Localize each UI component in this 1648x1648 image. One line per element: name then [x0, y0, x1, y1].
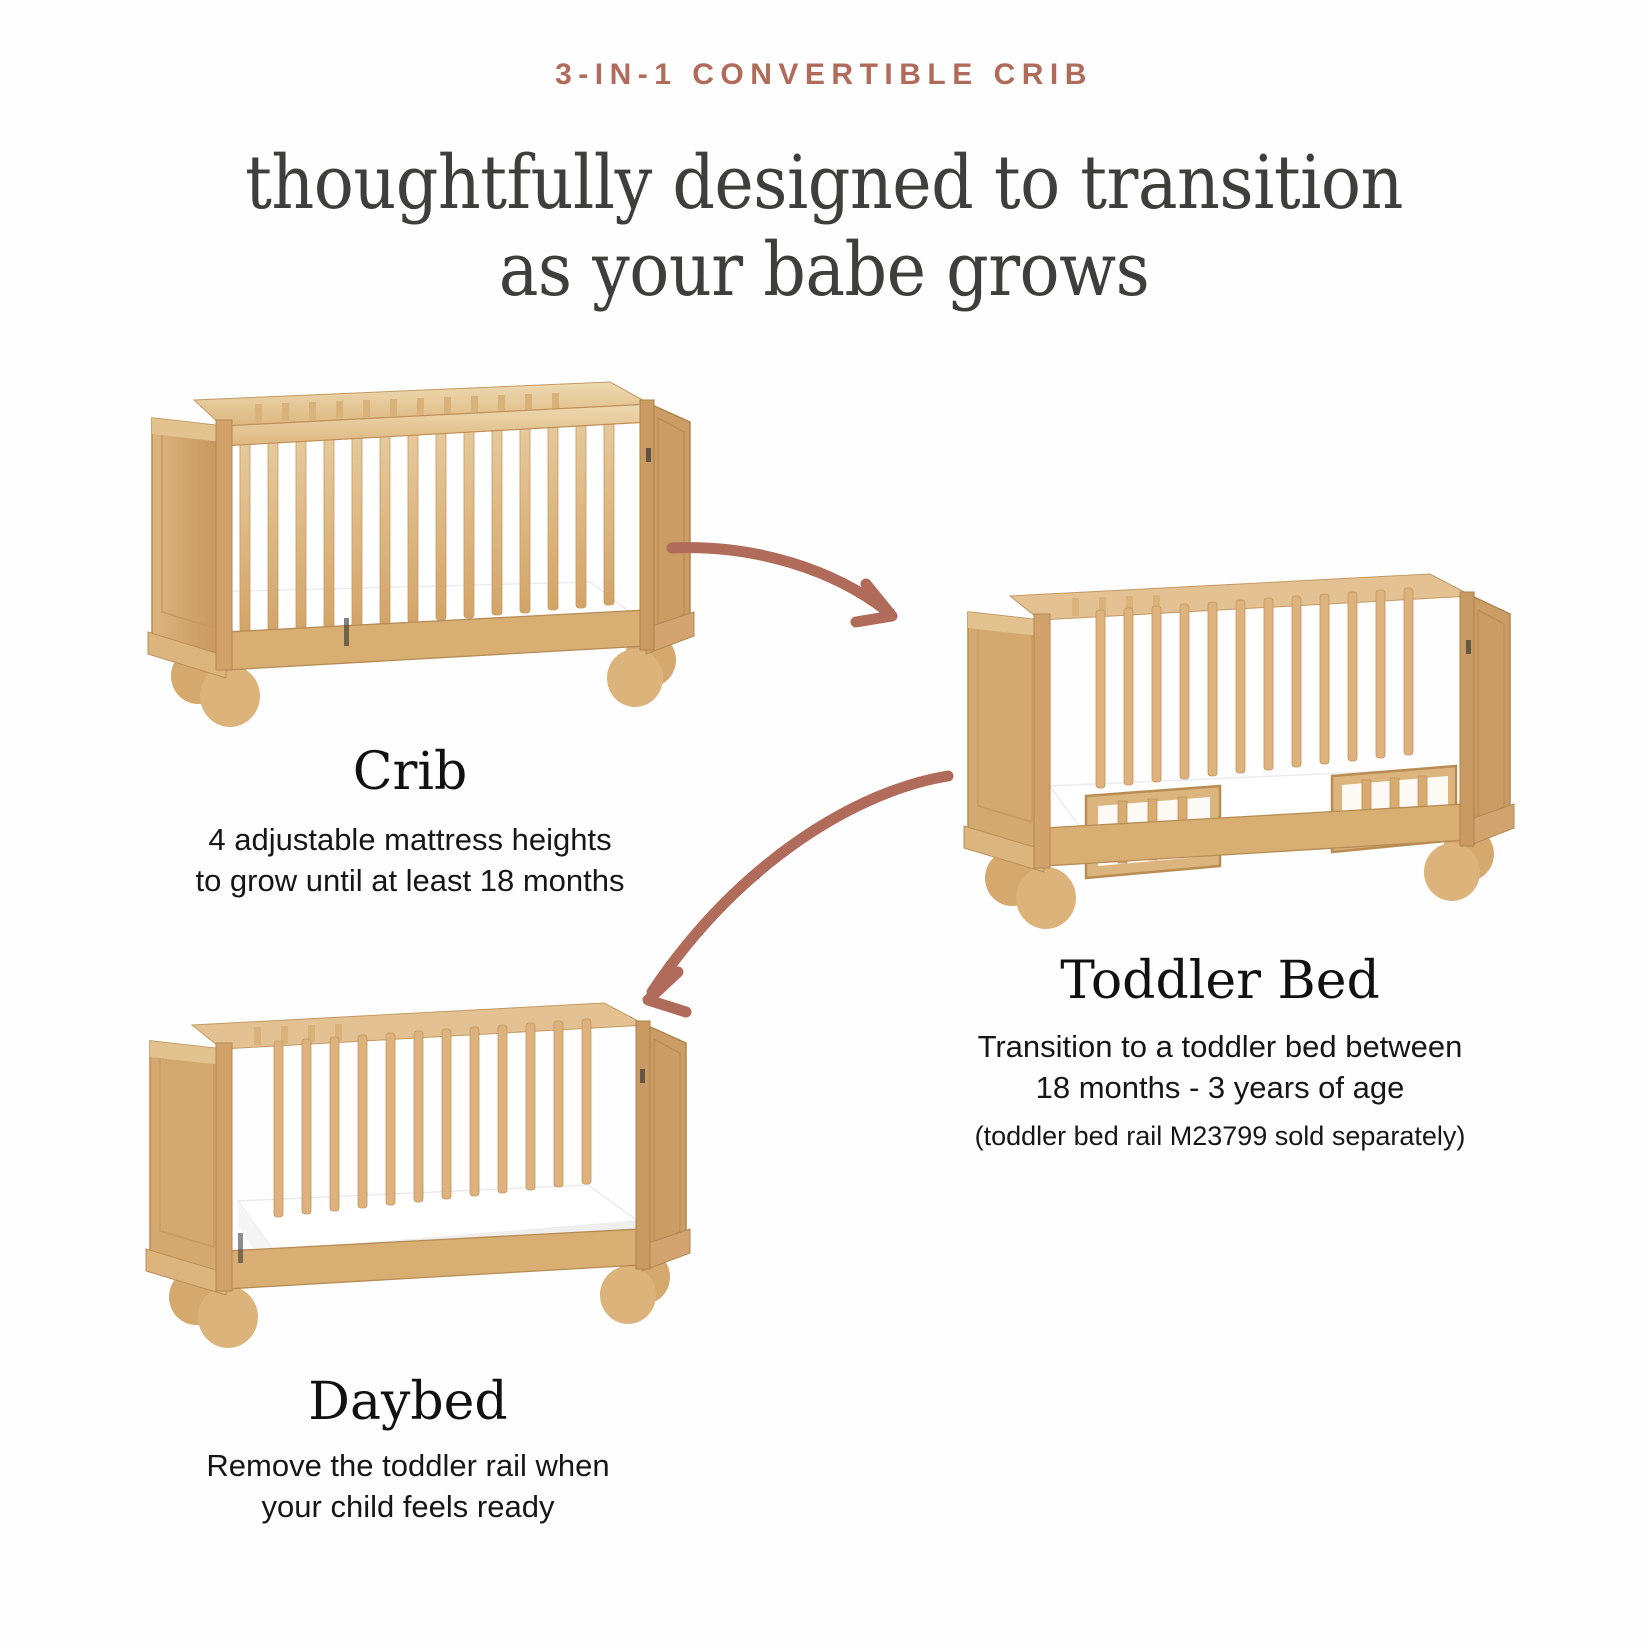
- product-block-toddler-bed: Toddler Bed Transition to a toddler bed …: [900, 548, 1540, 1152]
- toddler-bed-title: Toddler Bed: [900, 951, 1540, 1011]
- crib-subtext-line-1: 4 adjustable mattress heights: [90, 820, 730, 861]
- daybed-foot: [600, 1266, 656, 1324]
- toddler-bed-illustration: [900, 548, 1540, 933]
- crib-subtext-line-2: to grow until at least 18 months: [90, 861, 730, 902]
- toddler-bed-subtext: Transition to a toddler bed between 18 m…: [900, 1027, 1540, 1109]
- crib-subtext: 4 adjustable mattress heights to grow un…: [90, 820, 730, 902]
- toddler-bed-rail-note: (toddler bed rail M23799 sold separately…: [900, 1121, 1540, 1152]
- daybed-foot: [198, 1286, 258, 1348]
- daybed-subtext: Remove the toddler rail when your child …: [88, 1446, 728, 1528]
- crib-illustration: [90, 360, 730, 730]
- crib-caption: Crib 4 adjustable mattress heights to gr…: [90, 742, 730, 902]
- crib-foot: [607, 649, 663, 707]
- headline-line-2: as your babe grows: [0, 227, 1648, 314]
- product-block-crib: Crib 4 adjustable mattress heights to gr…: [90, 360, 730, 902]
- product-block-daybed: Daybed Remove the toddler rail when your…: [88, 985, 728, 1528]
- headline-line-1: thoughtfully designed to transition: [245, 140, 1403, 226]
- toddler-bed-subtext-line-1: Transition to a toddler bed between: [900, 1027, 1540, 1068]
- daybed-caption: Daybed Remove the toddler rail when your…: [88, 1372, 728, 1528]
- page-title: thoughtfully designed to transition as y…: [0, 140, 1648, 315]
- daybed-title: Daybed: [88, 1372, 728, 1432]
- crib-foot: [200, 665, 260, 727]
- daybed-subtext-line-2: your child feels ready: [88, 1487, 728, 1528]
- daybed-illustration: [88, 985, 728, 1350]
- eyebrow-label: 3-IN-1 CONVERTIBLE CRIB: [0, 58, 1648, 92]
- toddler-bed-foot: [1016, 867, 1076, 929]
- toddler-bed-caption: Toddler Bed Transition to a toddler bed …: [900, 951, 1540, 1152]
- daybed-subtext-line-1: Remove the toddler rail when: [88, 1446, 728, 1487]
- toddler-bed-foot: [1424, 843, 1480, 901]
- crib-title: Crib: [90, 742, 730, 802]
- promo-page: 3-IN-1 CONVERTIBLE CRIB thoughtfully des…: [0, 0, 1648, 1648]
- toddler-bed-subtext-line-2: 18 months - 3 years of age: [900, 1068, 1540, 1109]
